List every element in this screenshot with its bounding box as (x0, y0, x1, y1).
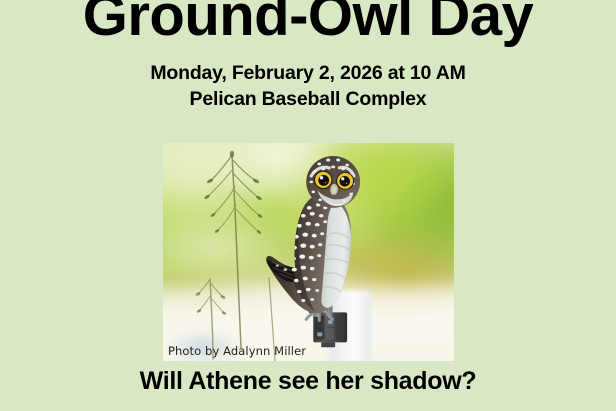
page-title: Ground-Owl Day (0, 0, 616, 47)
poster-canvas: Ground-Owl Day Monday, February 2, 2026 … (0, 0, 616, 411)
photo-credit: Photo by Adalynn Miller (168, 344, 306, 358)
owl-photo: Photo by Adalynn Miller (163, 143, 454, 361)
event-details: Monday, February 2, 2026 at 10 AM Pelica… (0, 61, 616, 113)
event-datetime: Monday, February 2, 2026 at 10 AM (0, 61, 616, 87)
owl-body (266, 193, 351, 313)
owl-head (306, 156, 360, 208)
footer-question: Will Athene see her shadow? (0, 367, 616, 396)
burrowing-owl-illustration (233, 150, 413, 359)
event-location: Pelican Baseball Complex (0, 87, 616, 113)
